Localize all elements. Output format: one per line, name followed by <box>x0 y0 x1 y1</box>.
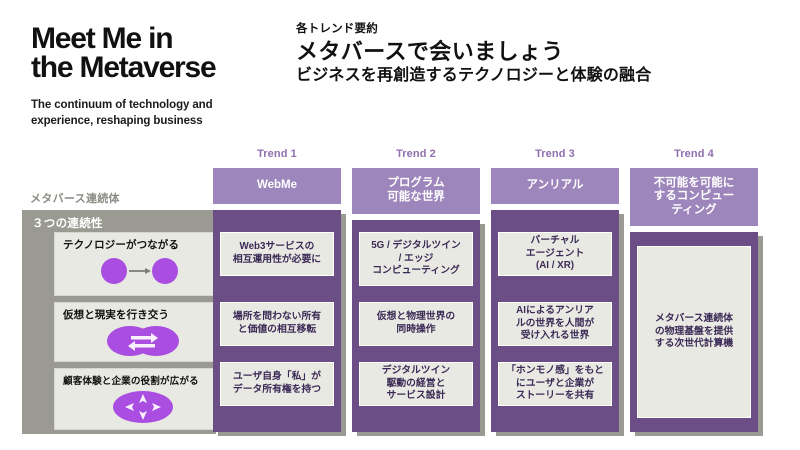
trend-column-1[interactable]: WebMeWeb3サービスの相互運用性が必要に場所を問わない所有と価値の相互移転… <box>213 168 341 438</box>
jp-title: メタバースで会いましょう <box>296 38 776 66</box>
trend-cell-2-3[interactable]: デジタルツイン駆動の経営とサービス設計 <box>359 362 473 406</box>
trend-body-4: メタバース連続体の物理基盤を提供する次世代計算機 <box>630 232 758 432</box>
slide-canvas: Meet Me in the Metaverse The continuum o… <box>0 0 800 450</box>
trend-cell-3-2[interactable]: AIによるアンリアルの世界を人間が受け入れる世界 <box>498 302 612 346</box>
jp-subtitle: ビジネスを再創造するテクノロジーと体験の融合 <box>296 66 776 86</box>
page-subtitle: The continuum of technology and experien… <box>31 97 271 130</box>
trend-label-3: Trend 3 <box>491 148 619 160</box>
continuum-panel: ３つの連続性 テクノロジーがつながる仮想と現実を行き交う顧客体験と企業の役割が広… <box>22 210 216 434</box>
continuum-row-3: 顧客体験と企業の役割が広がる <box>54 368 230 430</box>
trend-cell-1-1[interactable]: Web3サービスの相互運用性が必要に <box>220 232 334 276</box>
trend-body-2: 5G / デジタルツイン/ エッジコンピューティング仮想と物理世界の同時操作デジ… <box>352 220 480 432</box>
trend-cell-2-1[interactable]: 5G / デジタルツイン/ エッジコンピューティング <box>359 232 473 286</box>
trend-label-row: Trend 1Trend 2Trend 3Trend 4 <box>0 148 800 164</box>
trend-cell-3-3[interactable]: 「ホンモノ感」をもとにユーザと企業がストーリーを共有 <box>498 362 612 406</box>
continuum-row-1: テクノロジーがつながる <box>54 232 230 296</box>
page-title: Meet Me in the Metaverse <box>31 24 271 83</box>
trend-label-2: Trend 2 <box>352 148 480 160</box>
continuum-row-label-1: テクノロジーがつながる <box>63 237 179 252</box>
title-block: Meet Me in the Metaverse The continuum o… <box>31 24 271 129</box>
trend-column-4[interactable]: 不可能を可能にするコンピューティングメタバース連続体の物理基盤を提供する次世代計… <box>630 168 758 438</box>
continuum-label: メタバース連続体 <box>30 190 120 206</box>
ellipse-expand-arrows-icon <box>55 389 231 425</box>
page-title-line1: Meet Me in <box>31 24 271 53</box>
trend-label-1: Trend 1 <box>213 148 341 160</box>
trend-header-1: WebMe <box>213 168 341 204</box>
trend-body-1: Web3サービスの相互運用性が必要に場所を問わない所有と価値の相互移転ユーザ自身… <box>213 210 341 432</box>
japanese-header: 各トレンド要約 メタバースで会いましょう ビジネスを再創造するテクノロジーと体験… <box>296 22 776 86</box>
trend-header-4: 不可能を可能にするコンピューティング <box>630 168 758 226</box>
continuum-row-label-2: 仮想と現実を行き交う <box>63 307 169 322</box>
trend-cell-1-2[interactable]: 場所を問わない所有と価値の相互移転 <box>220 302 334 346</box>
page-title-line2: the Metaverse <box>31 53 271 82</box>
trend-cell-3-1[interactable]: バーチャルエージェント(AI / XR) <box>498 232 612 276</box>
page-subtitle-line1: The continuum of technology and <box>31 97 271 113</box>
jp-eyebrow: 各トレンド要約 <box>296 22 776 37</box>
continuum-panel-title: ３つの連続性 <box>32 215 103 231</box>
trend-cell-4-merged[interactable]: メタバース連続体の物理基盤を提供する次世代計算機 <box>637 246 751 418</box>
trend-body-3: バーチャルエージェント(AI / XR)AIによるアンリアルの世界を人間が受け入… <box>491 210 619 432</box>
trend-column-3[interactable]: アンリアルバーチャルエージェント(AI / XR)AIによるアンリアルの世界を人… <box>491 168 619 438</box>
continuum-row-label-3: 顧客体験と企業の役割が広がる <box>63 373 199 387</box>
continuum-row-2: 仮想と現実を行き交う <box>54 302 230 362</box>
page-subtitle-line2: experience, reshaping business <box>31 113 271 129</box>
trend-column-2[interactable]: プログラム可能な世界5G / デジタルツイン/ エッジコンピューティング仮想と物… <box>352 168 480 438</box>
trend-header-3: アンリアル <box>491 168 619 204</box>
two-circles-arrow-icon <box>55 253 231 289</box>
trend-cell-2-2[interactable]: 仮想と物理世界の同時操作 <box>359 302 473 346</box>
trend-cell-1-3[interactable]: ユーザ自身「私」がデータ所有権を持つ <box>220 362 334 406</box>
trend-label-4: Trend 4 <box>630 148 758 160</box>
venn-exchange-icon <box>55 323 231 359</box>
trend-header-2: プログラム可能な世界 <box>352 168 480 214</box>
